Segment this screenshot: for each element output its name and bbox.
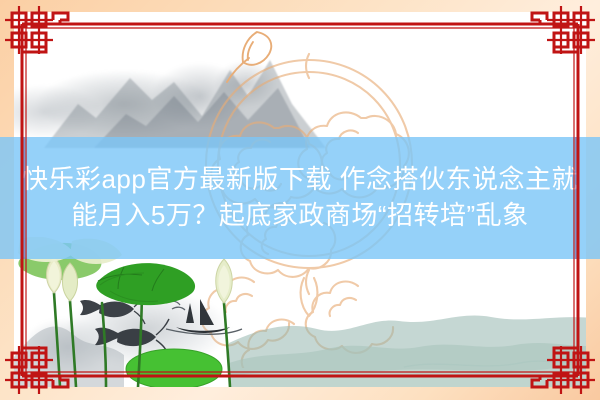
banner-image: 快乐彩app官方最新版下载 作念搭伙东说念主就 能月入5万？起底家政商场“招转培… [0, 0, 600, 400]
water-ripple-icon [400, 341, 580, 381]
ink-wash-splash [28, 259, 278, 379]
headline-band: 快乐彩app官方最新版下载 作念搭伙东说念主就 能月入5万？起底家政商场“招转培… [0, 137, 600, 259]
band-left-seam [22, 137, 25, 259]
mountain-peaks-icon [34, 30, 334, 150]
headline-line-1: 快乐彩app官方最新版下载 作念搭伙东说念主就 [22, 162, 578, 198]
ink-wash-mountains-icon [14, 26, 334, 146]
headline-line-2: 能月入5万？起底家政商场“招转培”乱象 [71, 198, 528, 234]
orange-leaf-motif-icon [219, 26, 279, 86]
band-right-seam [575, 137, 578, 259]
